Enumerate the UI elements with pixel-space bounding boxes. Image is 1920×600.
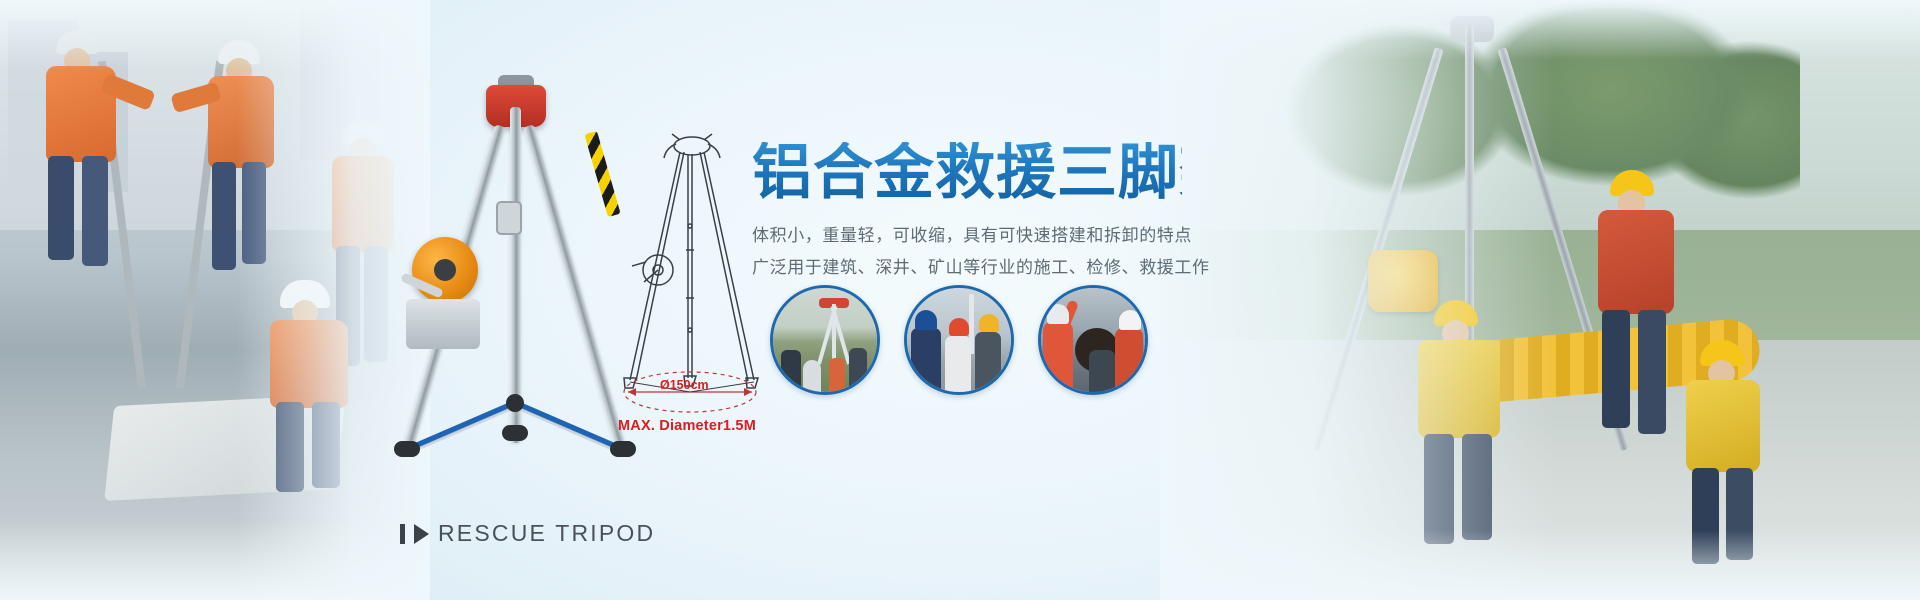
left-fade-overlay: [0, 0, 430, 600]
product-label-ribbon: RESCUE TRIPOD: [400, 520, 655, 547]
tripod-foot: [502, 425, 528, 441]
helmet-shape: [1047, 304, 1069, 324]
right-fade-overlay: [1160, 0, 1920, 600]
thumbnail-image: [773, 288, 877, 392]
person-shape: [829, 358, 845, 394]
page-title: 铝合金救援三脚架: [752, 142, 1182, 205]
helmet-shape: [979, 314, 999, 332]
helmet-shape: [915, 310, 937, 330]
subtitle-line-1: 体积小，重量轻，可收缩，具有可快速搭建和拆卸的特点: [752, 221, 1182, 251]
product-banner: RESCUE TRIPOD: [0, 0, 1920, 600]
person-shape: [945, 336, 971, 394]
winch-hub: [434, 259, 456, 281]
helmet-shape: [949, 318, 969, 336]
thumbnail-item[interactable]: [770, 285, 880, 395]
tripod-foot: [394, 441, 420, 457]
helmet-shape: [1119, 310, 1141, 330]
person-shape: [803, 360, 821, 394]
diameter-annotation: Ø150cm: [660, 378, 709, 392]
headline-block: 铝合金救援三脚架 体积小，重量轻，可收缩，具有可快速搭建和拆卸的特点 广泛用于建…: [752, 142, 1182, 283]
winch-mount-bracket: [406, 299, 480, 349]
thumbnail-gallery: [770, 285, 1148, 395]
thumbnail-image: [1041, 288, 1145, 392]
thumbnail-item[interactable]: [1038, 285, 1148, 395]
person-shape: [911, 328, 941, 394]
thumbnail-item[interactable]: [904, 285, 1014, 395]
pulley-shape: [496, 201, 522, 235]
tripod-structure: [817, 302, 851, 364]
person-shape: [975, 332, 1001, 394]
product-label-text: RESCUE TRIPOD: [438, 520, 655, 547]
thumbnail-image: [907, 288, 1011, 392]
right-photo-collage: [1160, 0, 1920, 600]
person-shape: [1043, 322, 1073, 394]
person-shape: [781, 350, 801, 390]
person-shape: [1089, 350, 1115, 394]
play-triangle-icon: [414, 524, 429, 544]
play-triangle-icon-bar: [400, 524, 405, 544]
person-shape: [849, 348, 867, 392]
max-diameter-annotation: MAX. Diameter1.5M: [618, 418, 756, 434]
left-photo-collage: [0, 0, 430, 600]
subtitle-line-2: 广泛用于建筑、深井、矿山等行业的施工、检修、救援工作: [752, 253, 1182, 283]
person-shape: [1115, 328, 1143, 394]
